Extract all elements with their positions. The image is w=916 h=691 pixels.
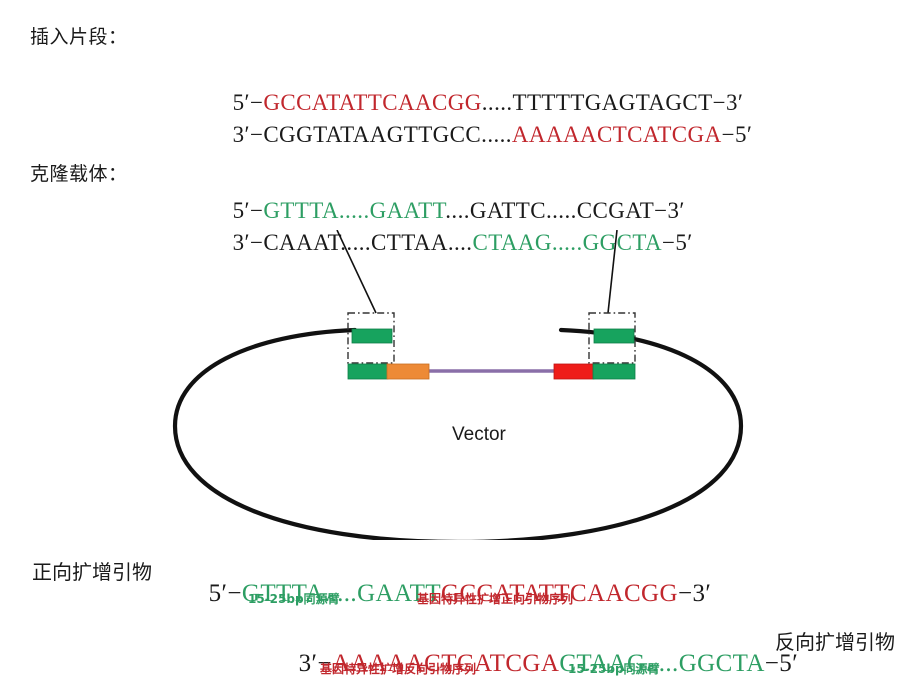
slide-canvas: 插入片段： 5′−GCCATATTCAACGG.....TTTTTGAGTAGC… (0, 0, 916, 691)
right-callout-green-bar (594, 329, 634, 343)
fwd-5prime: 5′− (209, 580, 242, 607)
insert-bottom-black-seq: CGGTATAAGTTGCC (263, 122, 481, 147)
insert-bottom-5prime: −5′ (722, 122, 753, 147)
insert-bottom-dots: ..... (481, 122, 512, 147)
insert-bottom-3prime: 3′− (233, 122, 264, 147)
insert-bottom-strand: 3′−CGGTATAAGTTGCC.....AAAAACTCATCGA−5′ (208, 96, 752, 174)
right-callout-leader-line (608, 230, 617, 313)
rev-green-b: GGCTA (679, 650, 765, 677)
construct-right-green-bar (593, 364, 635, 379)
construct-orange-bar (387, 364, 429, 379)
construct-left-green-bar (348, 364, 388, 379)
forward-homology-arm-annotation: 15-25bp同源臂 (248, 590, 340, 607)
cloning-vector-heading: 克隆载体： (30, 159, 128, 186)
forward-gene-specific-annotation: 基因特异性扩增正向引物序列 (417, 590, 573, 607)
reverse-primer-sequence: 3′−AAAAACTCATCGACTAAG.....GGCTA−5′ (272, 622, 798, 691)
plasmid-diagram (0, 230, 916, 540)
reverse-gene-specific-annotation: 基因特异性扩增反向引物序列 (320, 660, 476, 677)
insert-fragment-heading: 插入片段： (30, 22, 128, 49)
fwd-3prime: −3′ (678, 580, 711, 607)
forward-primer-title: 正向扩增引物 (32, 556, 152, 585)
insert-bottom-red-seq: AAAAACTCATCGA (512, 122, 722, 147)
reverse-homology-arm-annotation: 15-25bp同源臂 (568, 660, 660, 677)
construct-red-bar (554, 364, 594, 379)
left-callout-leader-line (337, 230, 376, 313)
left-callout-green-bar (352, 329, 392, 343)
vector-center-label: Vector (452, 424, 506, 446)
reverse-primer-title: 反向扩增引物 (775, 626, 895, 655)
